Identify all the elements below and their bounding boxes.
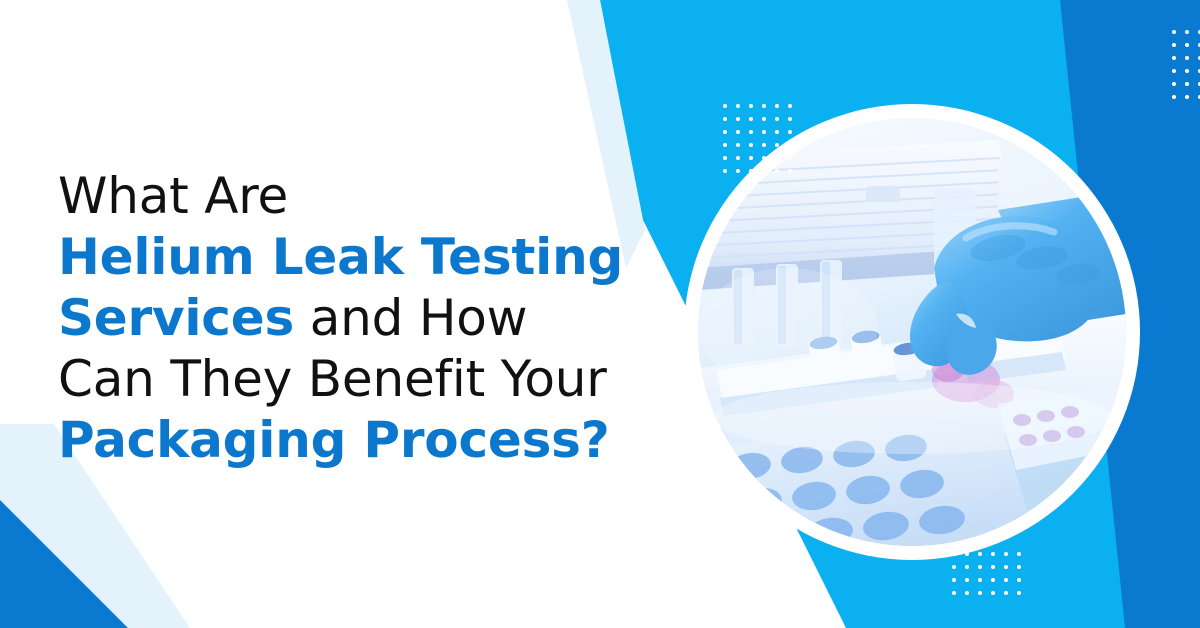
grid-dot <box>775 130 779 134</box>
grid-dot <box>762 143 766 147</box>
grid-dot <box>1185 69 1189 73</box>
grid-dot <box>736 104 740 108</box>
headline-line-5: Packaging Process? <box>58 410 678 471</box>
grid-dot <box>1172 43 1176 47</box>
grid-dot <box>1004 565 1008 569</box>
grid-dot <box>723 169 727 173</box>
grid-dot <box>736 117 740 121</box>
headline-line-5-text: Packaging Process? <box>58 411 610 469</box>
grid-dot <box>775 156 779 160</box>
grid-dot <box>762 130 766 134</box>
grid-dot <box>762 156 766 160</box>
grid-dot <box>1017 591 1021 595</box>
grid-dot <box>991 552 995 556</box>
grid-dot <box>991 565 995 569</box>
headline-line-2: Helium Leak Testing <box>58 227 678 288</box>
grid-dot <box>1017 565 1021 569</box>
grid-dot <box>1004 591 1008 595</box>
grid-dot <box>749 169 753 173</box>
grid-dot <box>1172 95 1176 99</box>
laboratory-vials-photo <box>698 118 1126 546</box>
grid-dot <box>736 156 740 160</box>
grid-dot <box>1172 56 1176 60</box>
grid-dot <box>762 104 766 108</box>
grid-dot <box>978 565 982 569</box>
grid-dot <box>1172 82 1176 86</box>
grid-dot <box>1017 578 1021 582</box>
grid-dot <box>952 552 956 556</box>
grid-dot <box>788 169 792 173</box>
grid-dot <box>749 104 753 108</box>
grid-dot <box>1185 95 1189 99</box>
grid-dot <box>1017 552 1021 556</box>
grid-dot <box>965 591 969 595</box>
headline-line-4: Can They Benefit Your <box>58 349 678 410</box>
headline-line-3-regular-text: and How <box>294 289 527 347</box>
grid-dot <box>1185 43 1189 47</box>
page-title: What Are Helium Leak Testing Services an… <box>58 166 678 471</box>
grid-dot <box>723 130 727 134</box>
grid-dot <box>749 156 753 160</box>
grid-dot <box>978 552 982 556</box>
grid-dot <box>991 591 995 595</box>
grid-dot <box>1004 578 1008 582</box>
grid-dot <box>965 552 969 556</box>
grid-dot <box>952 565 956 569</box>
headline-line-2-text: Helium Leak Testing <box>58 228 623 286</box>
grid-dot <box>788 143 792 147</box>
grid-dot <box>775 117 779 121</box>
grid-dot <box>978 591 982 595</box>
grid-dot <box>952 591 956 595</box>
headline-line-1-text: What Are <box>58 167 288 225</box>
grid-dot <box>1004 552 1008 556</box>
grid-dot <box>788 104 792 108</box>
grid-dot <box>788 156 792 160</box>
grid-dot <box>775 169 779 173</box>
hero-banner: What Are Helium Leak Testing Services an… <box>0 0 1200 628</box>
grid-dot <box>1172 69 1176 73</box>
grid-dot <box>965 578 969 582</box>
grid-dot <box>978 578 982 582</box>
grid-dot <box>723 156 727 160</box>
grid-dot <box>749 143 753 147</box>
grid-dot <box>749 117 753 121</box>
headline-line-1: What Are <box>58 166 678 227</box>
headline-line-3-bold-text: Services <box>58 289 294 347</box>
grid-dot <box>762 169 766 173</box>
grid-dot <box>788 130 792 134</box>
grid-dot <box>1185 30 1189 34</box>
grid-dot <box>775 104 779 108</box>
headline-line-3: Services and How <box>58 288 678 349</box>
grid-dot <box>723 104 727 108</box>
grid-dot <box>736 169 740 173</box>
grid-dot <box>952 578 956 582</box>
grid-dot <box>788 117 792 121</box>
grid-dot <box>723 117 727 121</box>
grid-dot <box>1172 30 1176 34</box>
grid-dot <box>1185 56 1189 60</box>
grid-dot <box>991 578 995 582</box>
grid-dot <box>965 565 969 569</box>
grid-dot <box>723 143 727 147</box>
grid-dot <box>736 143 740 147</box>
grid-dot <box>775 143 779 147</box>
grid-dot <box>1185 82 1189 86</box>
grid-dot <box>762 117 766 121</box>
grid-dot <box>736 130 740 134</box>
grid-dot <box>749 130 753 134</box>
headline-line-4-text: Can They Benefit Your <box>58 350 607 408</box>
